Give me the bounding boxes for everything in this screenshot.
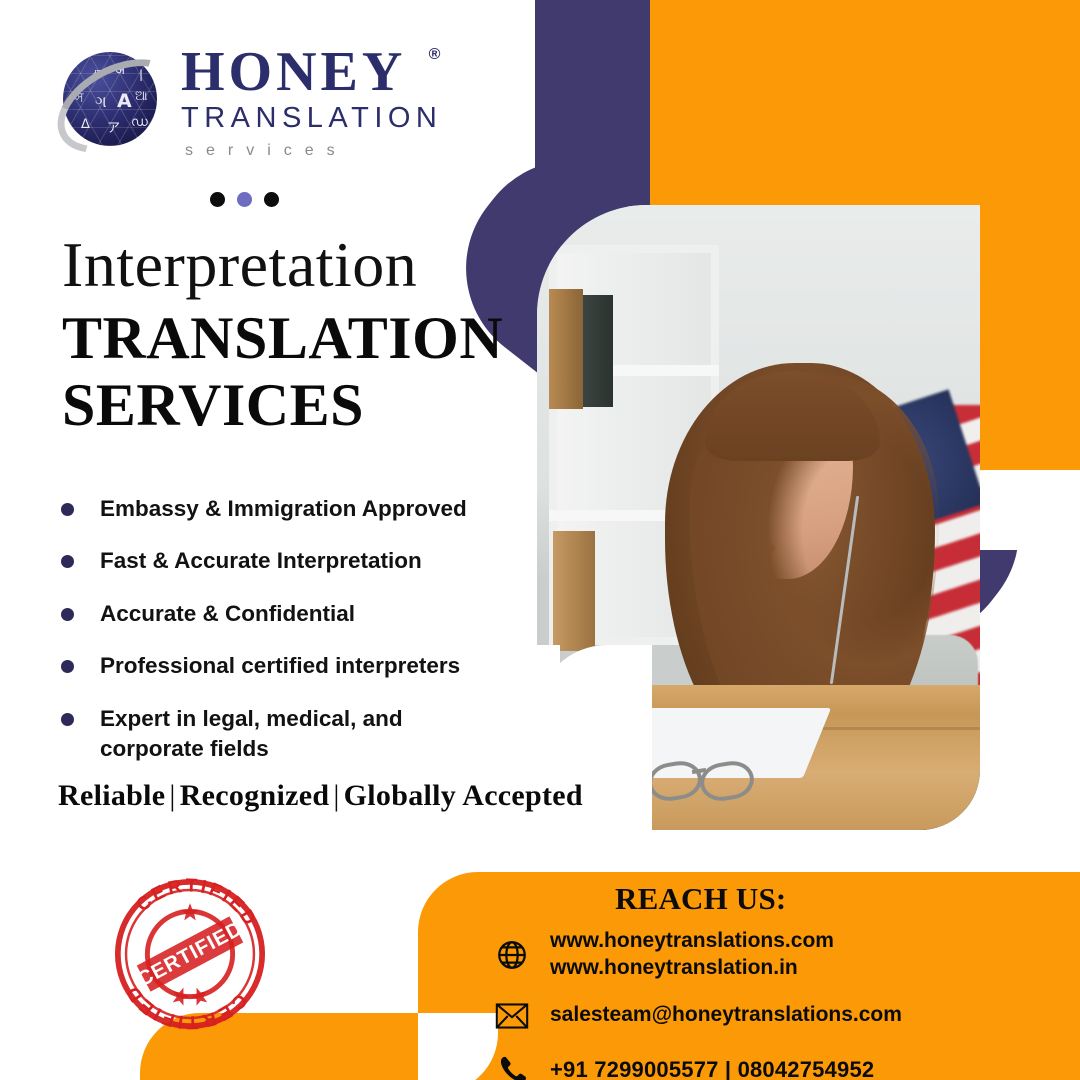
headline-line-2: SERVICES bbox=[62, 372, 503, 439]
photo-book bbox=[553, 531, 595, 651]
certified-stamp-icon: CERTIFIED CERTIFIED CERTIFIED bbox=[108, 872, 272, 1036]
phone-icon bbox=[492, 1050, 532, 1080]
contact-row-phone[interactable]: +91 7299005577 | 08042754952 bbox=[492, 1050, 902, 1080]
list-item: Professional certified interpreters bbox=[55, 651, 525, 681]
brand-logo: க अ ㅣ স ગ ଆ A ᐃ ア ഡ HONEY® TRANSLATION s… bbox=[55, 45, 442, 160]
decorative-dots bbox=[210, 192, 279, 207]
phone-numbers[interactable]: +91 7299005577 | 08042754952 bbox=[550, 1056, 874, 1080]
list-item-label: Professional certified interpreters bbox=[100, 651, 460, 681]
list-item: Expert in legal, medical, and corporate … bbox=[55, 704, 525, 765]
dot-1 bbox=[210, 192, 225, 207]
website-link-2[interactable]: www.honeytranslation.in bbox=[550, 955, 834, 982]
email-link[interactable]: salesteam@honeytranslations.com bbox=[550, 1002, 902, 1029]
svg-text:CERTIFIED: CERTIFIED bbox=[134, 917, 247, 992]
registered-mark-icon: ® bbox=[429, 47, 445, 63]
tagline-separator: | bbox=[165, 779, 179, 812]
svg-text:CERTIFIED: CERTIFIED bbox=[132, 874, 262, 930]
svg-text:CERTIFIED: CERTIFIED bbox=[120, 981, 251, 1034]
photo-glasses bbox=[642, 756, 792, 796]
headline-line-1: TRANSLATION bbox=[62, 305, 503, 372]
dot-2 bbox=[237, 192, 252, 207]
website-link-1[interactable]: www.honeytranslations.com bbox=[550, 928, 834, 955]
brand-name-primary: HONEY® bbox=[181, 45, 442, 100]
tagline-separator: | bbox=[329, 779, 343, 812]
globe-icon bbox=[492, 935, 532, 975]
bullet-dot-icon bbox=[61, 608, 74, 621]
dot-3 bbox=[264, 192, 279, 207]
bullet-dot-icon bbox=[61, 660, 74, 673]
brand-name-tertiary: services bbox=[181, 142, 442, 160]
tagline-part-2: Recognized bbox=[180, 779, 330, 812]
contact-row-email[interactable]: salesteam@honeytranslations.com bbox=[492, 996, 902, 1036]
bullet-dot-icon bbox=[61, 503, 74, 516]
bullet-dot-icon bbox=[61, 555, 74, 568]
poster-canvas: க अ ㅣ স ગ ଆ A ᐃ ア ഡ HONEY® TRANSLATION s… bbox=[0, 0, 1080, 1080]
contact-heading: REACH US: bbox=[615, 881, 786, 917]
website-links[interactable]: www.honeytranslations.com www.honeytrans… bbox=[550, 928, 834, 982]
envelope-icon bbox=[492, 996, 532, 1036]
list-item: Embassy & Immigration Approved bbox=[55, 494, 525, 524]
list-item-label: Accurate & Confidential bbox=[100, 599, 355, 629]
brand-wordmark: HONEY® TRANSLATION services bbox=[181, 45, 442, 160]
list-item-label: Expert in legal, medical, and corporate … bbox=[100, 704, 460, 765]
bullet-dot-icon bbox=[61, 713, 74, 726]
list-item-label: Embassy & Immigration Approved bbox=[100, 494, 467, 524]
tagline: Reliable|Recognized|Globally Accepted bbox=[58, 779, 583, 813]
brand-name-secondary: TRANSLATION bbox=[181, 102, 442, 135]
list-item: Fast & Accurate Interpretation bbox=[55, 546, 525, 576]
page-title: TRANSLATION SERVICES bbox=[62, 305, 503, 439]
photo-book bbox=[583, 295, 613, 407]
feature-list: Embassy & Immigration Approved Fast & Ac… bbox=[55, 494, 525, 764]
headline-script: Interpretation bbox=[62, 233, 417, 297]
photo-book bbox=[549, 289, 583, 409]
list-item: Accurate & Confidential bbox=[55, 599, 525, 629]
tagline-part-1: Reliable bbox=[58, 779, 165, 812]
contact-list: www.honeytranslations.com www.honeytrans… bbox=[492, 928, 902, 1080]
tagline-part-3: Globally Accepted bbox=[344, 779, 583, 812]
list-item-label: Fast & Accurate Interpretation bbox=[100, 546, 422, 576]
contact-row-website[interactable]: www.honeytranslations.com www.honeytrans… bbox=[492, 928, 902, 982]
globe-icon: க अ ㅣ স ગ ଆ A ᐃ ア ഡ bbox=[55, 46, 167, 158]
